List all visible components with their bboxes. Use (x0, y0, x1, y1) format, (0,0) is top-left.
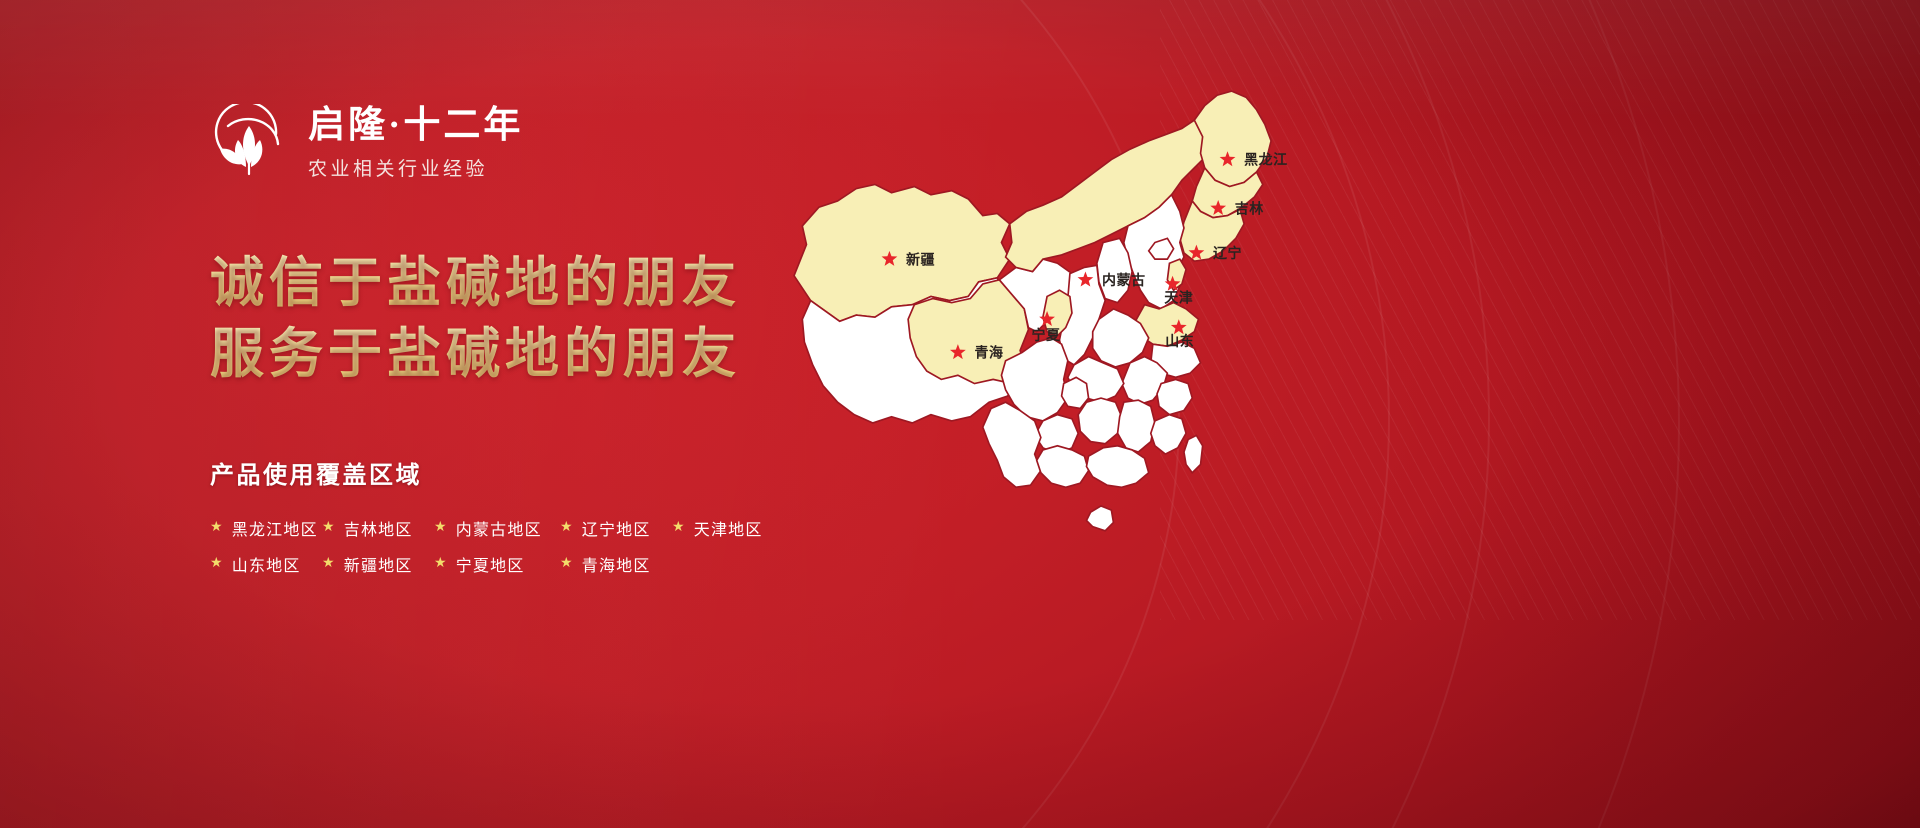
province-guangxi (1037, 446, 1089, 487)
star-icon: ★ (210, 521, 224, 535)
region-label: 新疆地区 (344, 552, 413, 576)
lotus-leaf-circle-logo-icon (210, 104, 288, 182)
region-label: 吉林地区 (344, 516, 413, 540)
region-tag: ★ 青海地区 (560, 552, 672, 576)
region-label: 宁夏地区 (456, 552, 525, 576)
region-label: 辽宁地区 (582, 516, 651, 540)
star-icon: ★ (210, 557, 224, 571)
region-tag: ★ 山东地区 (210, 552, 322, 576)
map-province-label: 辽宁 (1213, 245, 1242, 262)
region-tag: ★ 新疆地区 (322, 552, 434, 576)
province-taiwan (1184, 435, 1203, 472)
region-label: 黑龙江地区 (232, 516, 318, 540)
star-icon: ★ (560, 521, 574, 535)
region-tag: ★ 辽宁地区 (560, 516, 672, 540)
map-province-label: 天津 (1164, 290, 1193, 307)
brand-subtitle: 农业相关行业经验 (308, 154, 523, 181)
map-province-label: 内蒙古 (1102, 272, 1146, 289)
map-province-label: 青海 (974, 345, 1003, 362)
headline-block: 诚信于盐碱地的朋友 服务于盐碱地的朋友 (210, 248, 741, 391)
star-icon: ★ (322, 557, 336, 571)
headline-line-2: 服务于盐碱地的朋友 (210, 319, 741, 390)
brand-logo: 启隆·十二年 农业相关行业经验 (210, 104, 523, 182)
china-coverage-map: 黑龙江吉林辽宁内蒙古天津山东新疆宁夏青海 (745, 60, 1345, 620)
map-province-label: 宁夏 (1032, 327, 1062, 344)
region-label: 山东地区 (232, 552, 301, 576)
coverage-section: 产品使用覆盖区域 ★ 黑龙江地区 ★ 吉林地区 ★ 内蒙古地区 (210, 455, 784, 588)
coverage-region-list: ★ 黑龙江地区 ★ 吉林地区 ★ 内蒙古地区 ★ 辽宁地区 (210, 516, 784, 576)
promo-banner: 启隆·十二年 农业相关行业经验 诚信于盐碱地的朋友 服务于盐碱地的朋友 产品使用… (0, 0, 1920, 828)
province-zhejiang (1157, 379, 1192, 414)
region-tag: ★ 吉林地区 (322, 516, 434, 540)
headline-line-1: 诚信于盐碱地的朋友 (210, 248, 741, 319)
region-label: 内蒙古地区 (456, 516, 542, 540)
coverage-region-row: ★ 山东地区 ★ 新疆地区 ★ 宁夏地区 ★ 青海地区 (210, 552, 784, 576)
province-jiangxi (1118, 400, 1155, 452)
map-province-label: 新疆 (906, 251, 935, 268)
map-province-label: 吉林 (1235, 200, 1264, 217)
province-hainan (1086, 506, 1113, 531)
star-icon: ★ (434, 557, 448, 571)
coverage-title: 产品使用覆盖区域 (210, 455, 784, 490)
map-province-label: 黑龙江 (1244, 152, 1288, 169)
map-province-label: 山东 (1165, 333, 1194, 350)
region-tag: ★ 黑龙江地区 (210, 516, 322, 540)
star-icon: ★ (560, 557, 574, 571)
region-label: 青海地区 (582, 552, 651, 576)
region-tag: ★ 宁夏地区 (434, 552, 560, 576)
province-fujian (1151, 415, 1186, 454)
star-icon: ★ (672, 521, 686, 535)
province-hunan (1078, 398, 1122, 444)
brand-title: 启隆·十二年 (308, 105, 523, 148)
region-tag: ★ 内蒙古地区 (434, 516, 560, 540)
star-icon: ★ (322, 521, 336, 535)
star-icon: ★ (434, 521, 448, 535)
brand-logo-text: 启隆·十二年 农业相关行业经验 (308, 105, 523, 182)
coverage-region-row: ★ 黑龙江地区 ★ 吉林地区 ★ 内蒙古地区 ★ 辽宁地区 (210, 516, 784, 540)
